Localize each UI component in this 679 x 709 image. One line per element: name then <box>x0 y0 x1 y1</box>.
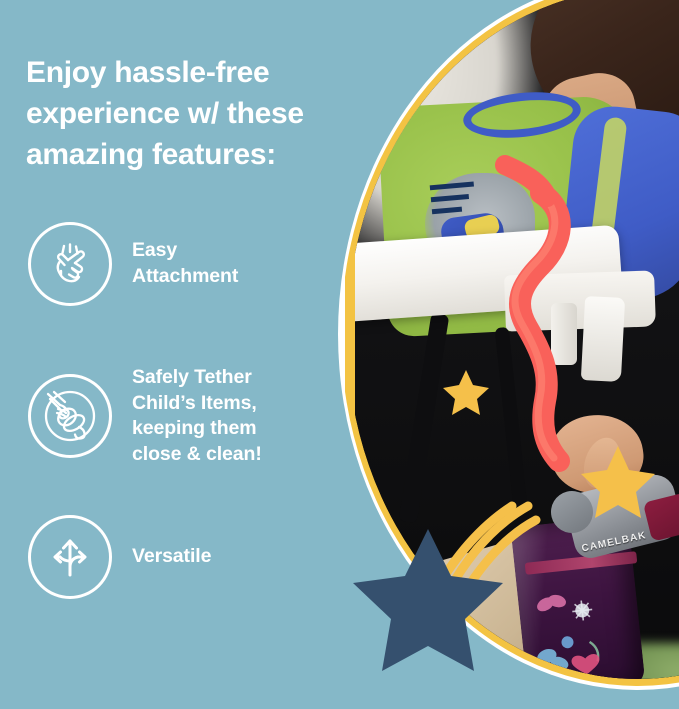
feature-text-line: close & clean! <box>132 442 262 468</box>
feature-text-line: Easy <box>132 238 238 264</box>
feature-text-line: Attachment <box>132 264 238 290</box>
headline-line-2: experience w/ these <box>26 93 386 134</box>
photo-tray-clip <box>581 296 625 382</box>
feature-label-safely-tether: Safely Tether Child’s Items, keeping the… <box>132 365 262 467</box>
feature-text-line: Safely Tether <box>132 365 262 391</box>
feature-label-versatile: Versatile <box>132 544 211 570</box>
product-photo: CAMELBAK <box>355 0 679 709</box>
headline-line-1: Enjoy hassle-free <box>26 52 386 93</box>
photo-disc: CAMELBAK <box>338 0 679 690</box>
pacifier-tether-icon <box>28 374 112 458</box>
photo-tray-post <box>551 303 577 365</box>
infographic-canvas: CAMELBAK <box>0 0 679 679</box>
photo-tray-lower <box>504 270 656 331</box>
feature-text-line: Child’s Items, <box>132 391 262 417</box>
feature-label-easy-attachment: Easy Attachment <box>132 238 238 289</box>
page-title: Enjoy hassle-free experience w/ these am… <box>26 52 386 175</box>
feature-item-safely-tether: Safely Tether Child’s Items, keeping the… <box>28 365 262 467</box>
feature-item-easy-attachment: Easy Attachment <box>28 222 238 306</box>
three-way-arrows-icon <box>28 515 112 599</box>
headline-line-3: amazing features: <box>26 134 386 175</box>
snapping-fingers-icon <box>28 222 112 306</box>
feature-item-versatile: Versatile <box>28 515 211 599</box>
feature-text-line: Versatile <box>132 544 211 570</box>
feature-text-line: keeping them <box>132 416 262 442</box>
